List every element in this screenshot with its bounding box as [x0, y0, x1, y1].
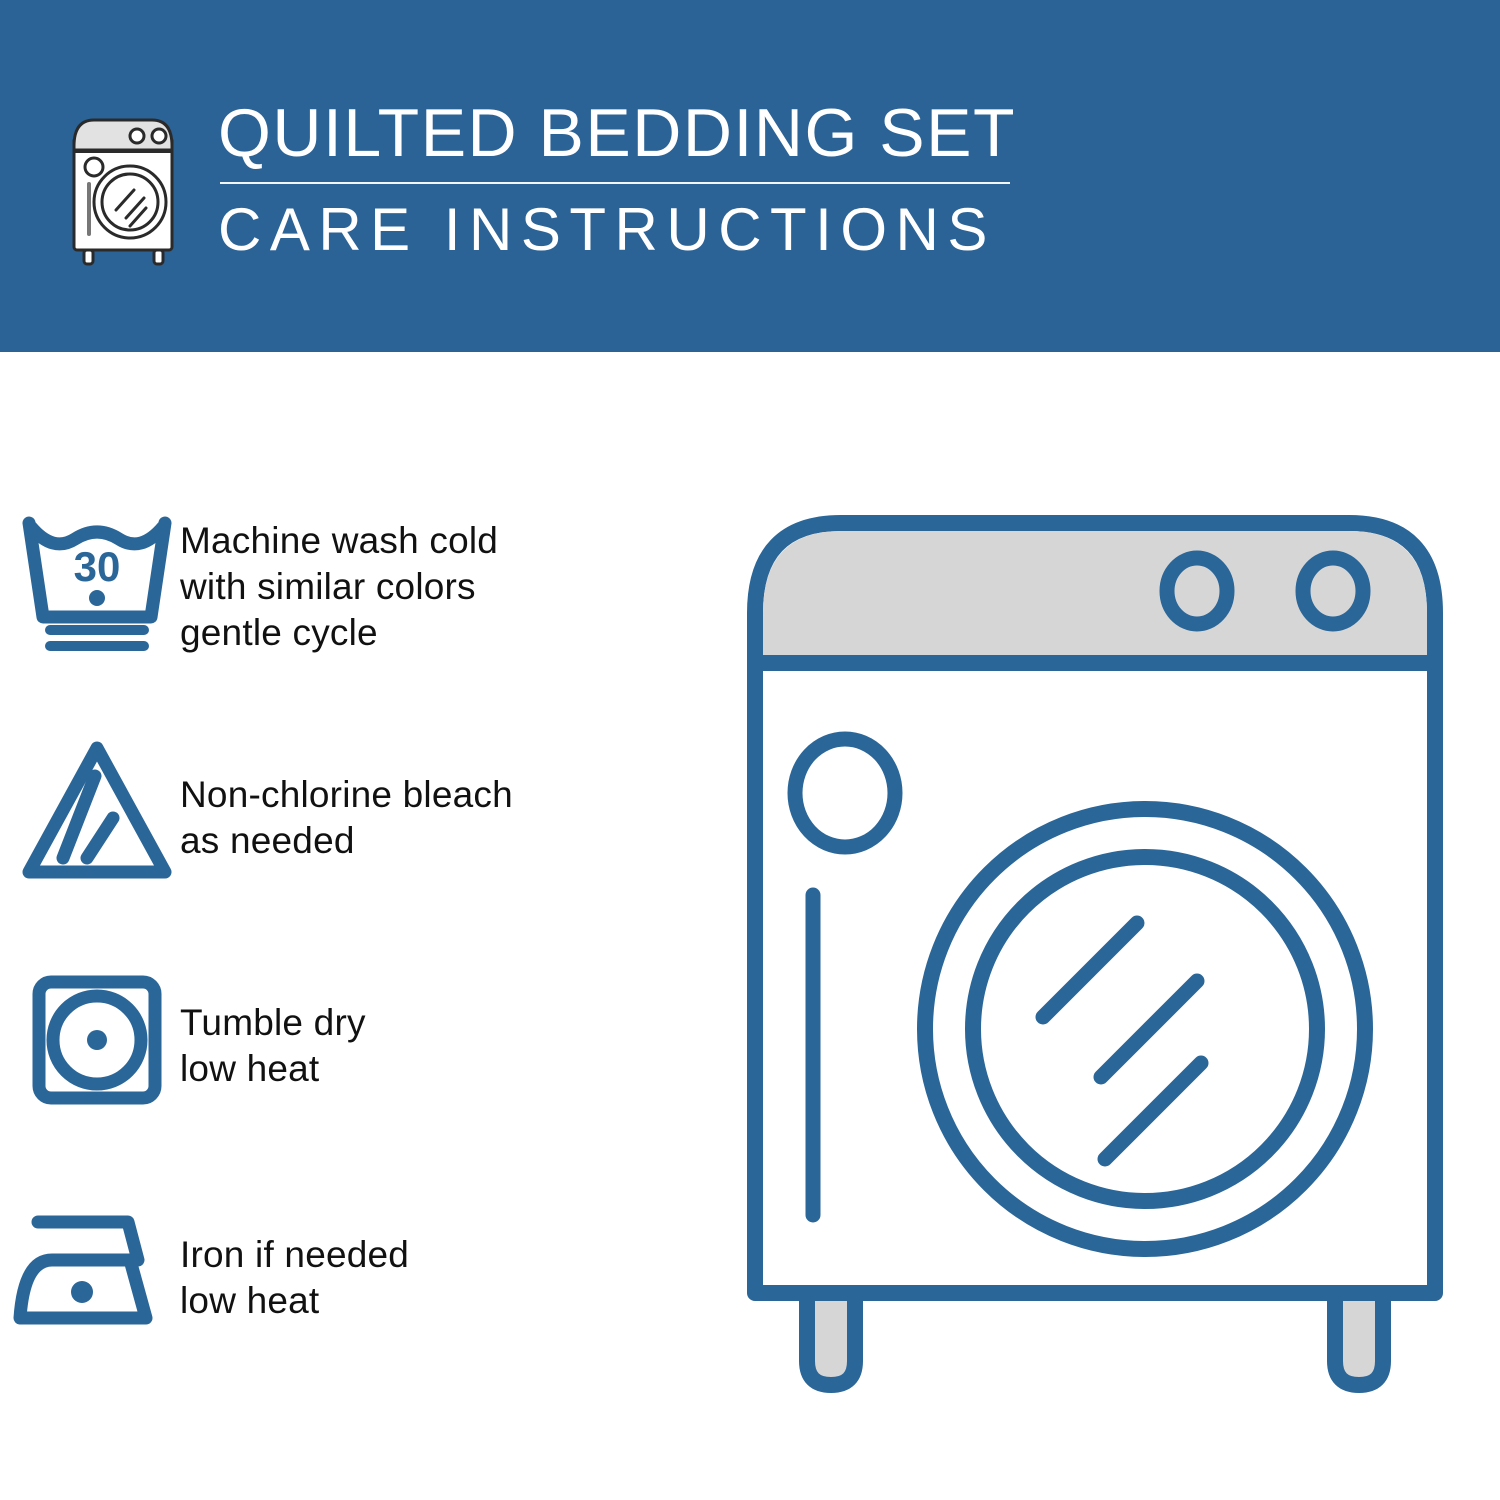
care-label-iron: Iron if needed low heat	[180, 1190, 409, 1324]
care-label-line: low heat	[180, 1046, 366, 1092]
care-row-iron: Iron if needed low heat	[0, 1190, 720, 1420]
care-row-machine-wash: 30 Machine wash cold with similar colors…	[0, 500, 720, 730]
detergent-port-circle	[795, 739, 895, 847]
page-subtitle: CARE INSTRUCTIONS	[218, 194, 1018, 266]
machine-leg	[1335, 1293, 1383, 1385]
knob	[1303, 558, 1363, 624]
care-instruction-list: 30 Machine wash cold with similar colors…	[0, 500, 720, 1420]
wash-tub-30-gentle-icon: 30	[0, 500, 180, 660]
care-instructions-page: QUILTED BEDDING SET CARE INSTRUCTIONS 30	[0, 0, 1500, 1500]
non-chlorine-bleach-triangle-icon	[0, 730, 180, 890]
header-divider	[220, 182, 1010, 184]
care-label-line: Machine wash cold	[180, 518, 498, 564]
care-label-line: Iron if needed	[180, 1232, 409, 1278]
machine-leg	[807, 1293, 855, 1385]
knob	[1167, 558, 1227, 624]
care-label-machine-wash: Machine wash cold with similar colors ge…	[180, 500, 498, 656]
care-label-tumble-dry: Tumble dry low heat	[180, 960, 366, 1092]
washing-machine-icon	[64, 104, 184, 264]
care-label-line: with similar colors	[180, 564, 498, 610]
care-label-line: as needed	[180, 818, 513, 864]
care-label-line: gentle cycle	[180, 610, 498, 656]
tumble-dry-low-icon	[0, 960, 180, 1120]
care-row-bleach: Non-chlorine bleach as needed	[0, 730, 720, 960]
care-label-line: Tumble dry	[180, 1000, 366, 1046]
care-label-line: low heat	[180, 1278, 409, 1324]
wash-temperature-value: 30	[74, 543, 121, 590]
header-text-block: QUILTED BEDDING SET CARE INSTRUCTIONS	[218, 92, 1018, 266]
care-label-bleach: Non-chlorine bleach as needed	[180, 730, 513, 864]
header-banner: QUILTED BEDDING SET CARE INSTRUCTIONS	[0, 0, 1500, 352]
iron-low-heat-icon	[0, 1190, 180, 1350]
washing-machine-illustration	[745, 495, 1445, 1415]
page-title: QUILTED BEDDING SET	[218, 92, 1018, 174]
care-label-line: Non-chlorine bleach	[180, 772, 513, 818]
care-row-tumble-dry: Tumble dry low heat	[0, 960, 720, 1190]
